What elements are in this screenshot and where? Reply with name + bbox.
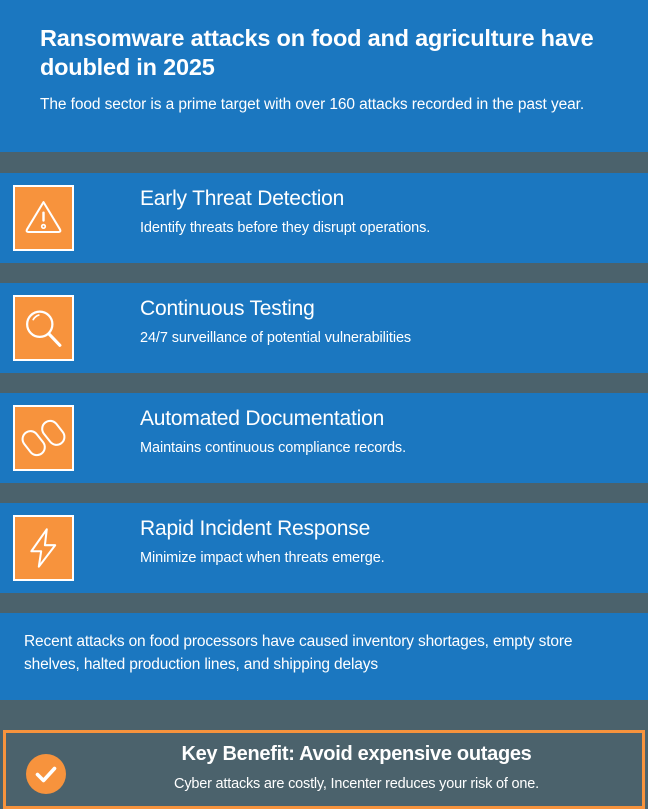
feature-text-block: Early Threat Detection Identify threats …: [140, 186, 638, 238]
feature-description: Minimize impact when threats emerge.: [140, 548, 638, 568]
warning-triangle-icon: [13, 185, 74, 251]
check-circle-icon: [25, 753, 67, 795]
feature-title: Automated Documentation: [140, 406, 638, 432]
feature-title: Continuous Testing: [140, 296, 638, 322]
impact-statement-text: Recent attacks on food processors have c…: [24, 630, 624, 676]
feature-text-block: Rapid Incident Response Minimize impact …: [140, 516, 638, 568]
feature-text-block: Automated Documentation Maintains contin…: [140, 406, 638, 458]
feature-title: Rapid Incident Response: [140, 516, 638, 542]
feature-description: Maintains continuous compliance records.: [140, 438, 638, 458]
infographic-page: Ransomware attacks on food and agricultu…: [0, 0, 648, 809]
key-benefit-text-block: Key Benefit: Avoid expensive outages Cyb…: [81, 741, 632, 794]
feature-row-automated-documentation[interactable]: Automated Documentation Maintains contin…: [0, 393, 648, 483]
feature-row-continuous-testing[interactable]: Continuous Testing 24/7 surveillance of …: [0, 283, 648, 373]
feature-title: Early Threat Detection: [140, 186, 638, 212]
feature-description: Identify threats before they disrupt ope…: [140, 218, 638, 238]
page-title: Ransomware attacks on food and agricultu…: [40, 24, 608, 82]
lightning-bolt-icon: [13, 515, 74, 581]
magnifier-icon: [13, 295, 74, 361]
feature-text-block: Continuous Testing 24/7 surveillance of …: [140, 296, 638, 348]
feature-row-rapid-incident-response[interactable]: Rapid Incident Response Minimize impact …: [0, 503, 648, 593]
feature-description: 24/7 surveillance of potential vulnerabi…: [140, 328, 638, 348]
page-subtitle: The food sector is a prime target with o…: [40, 94, 608, 116]
key-benefit-banner[interactable]: Key Benefit: Avoid expensive outages Cyb…: [3, 730, 645, 809]
key-benefit-subtitle: Cyber attacks are costly, Incenter reduc…: [81, 774, 632, 794]
header-banner: Ransomware attacks on food and agricultu…: [0, 0, 648, 152]
key-benefit-title: Key Benefit: Avoid expensive outages: [81, 741, 632, 767]
chain-link-icon: [13, 405, 74, 471]
impact-statement-block: Recent attacks on food processors have c…: [0, 613, 648, 700]
feature-row-early-threat-detection[interactable]: Early Threat Detection Identify threats …: [0, 173, 648, 263]
